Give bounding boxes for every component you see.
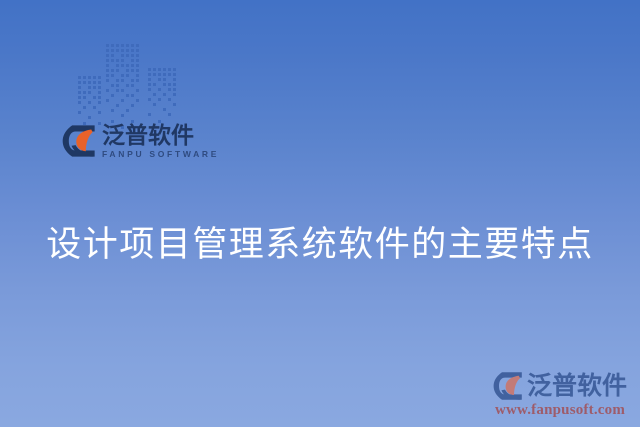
brand-name-cn: 泛普软件 bbox=[102, 124, 219, 147]
brand-lockup: 泛普软件 FANPU SOFTWARE bbox=[62, 124, 219, 159]
pixel-skyline-pattern bbox=[78, 42, 188, 130]
fanpu-logo-mark-icon bbox=[62, 124, 96, 158]
brand-name-en: FANPU SOFTWARE bbox=[102, 150, 219, 159]
pixel-skyline-icon bbox=[78, 42, 188, 130]
watermark: 泛普软件 www.fanpusoft.com bbox=[490, 371, 630, 419]
watermark-url: www.fanpusoft.com bbox=[490, 402, 630, 419]
brand-text-group: 泛普软件 FANPU SOFTWARE bbox=[102, 124, 219, 159]
watermark-lockup: 泛普软件 bbox=[490, 371, 630, 401]
fanpu-logo-mark-icon bbox=[493, 371, 523, 401]
page-title: 设计项目管理系统软件的主要特点 bbox=[0, 216, 640, 267]
watermark-name-cn: 泛普软件 bbox=[527, 374, 627, 399]
slide-canvas: 泛普软件 FANPU SOFTWARE 设计项目管理系统软件的主要特点 泛普软件… bbox=[0, 0, 640, 427]
